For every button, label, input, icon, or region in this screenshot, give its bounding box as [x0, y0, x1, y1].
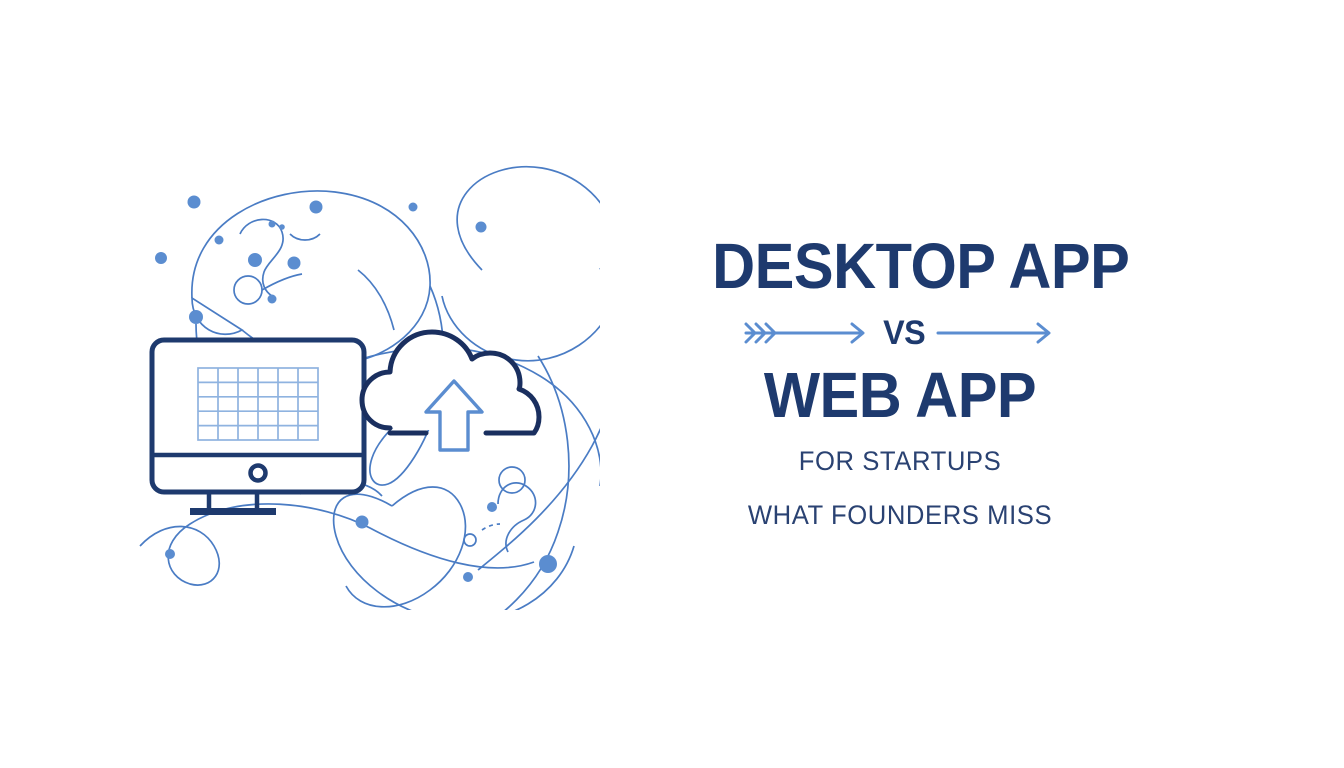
network-dot [310, 201, 323, 214]
network-dot [188, 196, 201, 209]
cloud-upload-icon [362, 332, 539, 450]
network-dot [539, 555, 557, 573]
network-dot [165, 549, 175, 559]
tagline-line-2: WHAT FOUNDERS MISS [701, 500, 1100, 531]
tagline-line-1: FOR STARTUPS [701, 446, 1100, 477]
page-title: DESKTOP APP [705, 236, 1096, 297]
vs-divider: VS [690, 311, 1110, 355]
monitor-home-button [251, 466, 266, 481]
network-dot [269, 221, 276, 228]
network-dot [409, 203, 418, 212]
network-dot [268, 295, 277, 304]
vs-label: VS [883, 316, 925, 350]
network-dot [487, 502, 497, 512]
network-dot [463, 572, 473, 582]
network-dot [279, 224, 285, 230]
network-dot [155, 252, 167, 264]
desktop-and-cloud-illustration [130, 150, 600, 610]
network-dot [288, 257, 301, 270]
feathered-arrow-icon [742, 320, 872, 346]
desktop-monitor-icon [152, 340, 364, 515]
page-subtitle-main: WEB APP [705, 365, 1096, 426]
network-dot [248, 253, 262, 267]
network-dot [215, 236, 224, 245]
poster-canvas: DESKTOP APP VS [0, 0, 1344, 768]
network-dot [189, 310, 203, 324]
network-dot [476, 222, 487, 233]
network-dot [356, 516, 369, 529]
arrow-right-icon [936, 320, 1058, 346]
monitor-stand-base [190, 508, 276, 515]
headline-block: DESKTOP APP VS [690, 236, 1110, 531]
